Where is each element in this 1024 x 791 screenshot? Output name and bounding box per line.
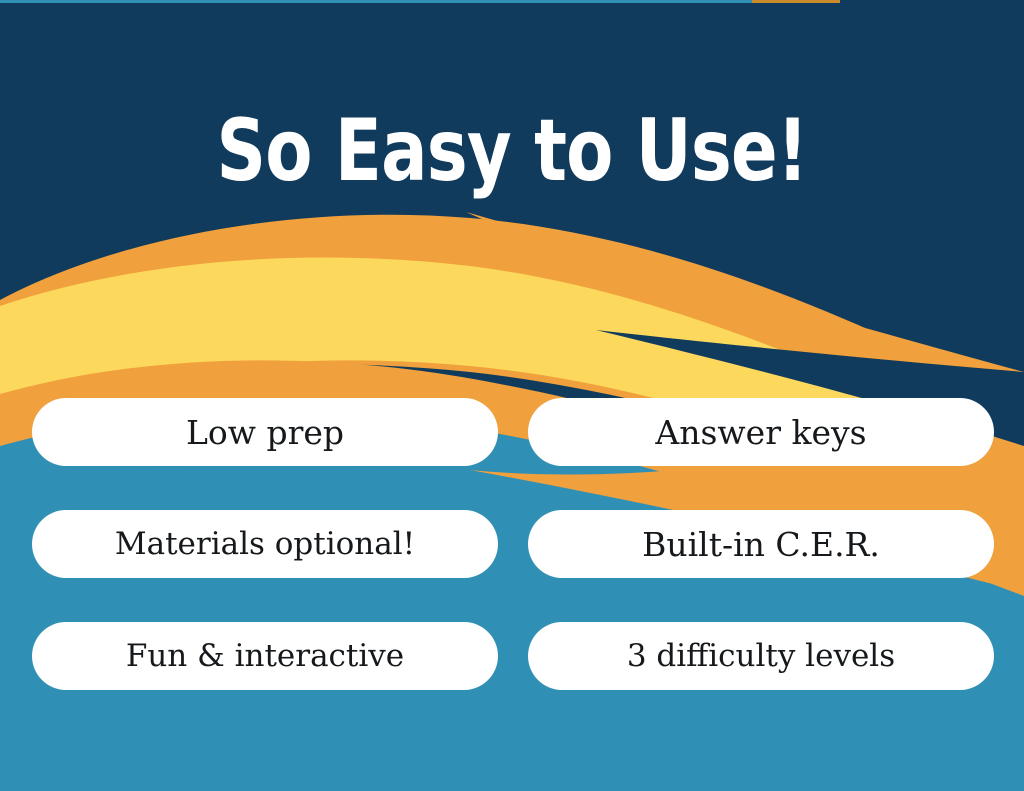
feature-pill-low-prep[interactable]: Low prep — [32, 398, 498, 466]
top-rule-blue-segment — [0, 0, 752, 3]
page-title: So Easy to Use! — [102, 106, 921, 196]
promo-slide: So Easy to Use! Low prep Answer keys Mat… — [0, 0, 1024, 791]
feature-pill-grid: Low prep Answer keys Materials optional!… — [32, 398, 994, 690]
feature-pill-difficulty-levels[interactable]: 3 difficulty levels — [528, 622, 994, 690]
top-rule-orange-segment — [752, 0, 840, 3]
feature-pill-built-in-cer[interactable]: Built-in C.E.R. — [528, 510, 994, 578]
feature-pill-materials-optional[interactable]: Materials optional! — [32, 510, 498, 578]
feature-pill-fun-interactive[interactable]: Fun & interactive — [32, 622, 498, 690]
feature-pill-answer-keys[interactable]: Answer keys — [528, 398, 994, 466]
